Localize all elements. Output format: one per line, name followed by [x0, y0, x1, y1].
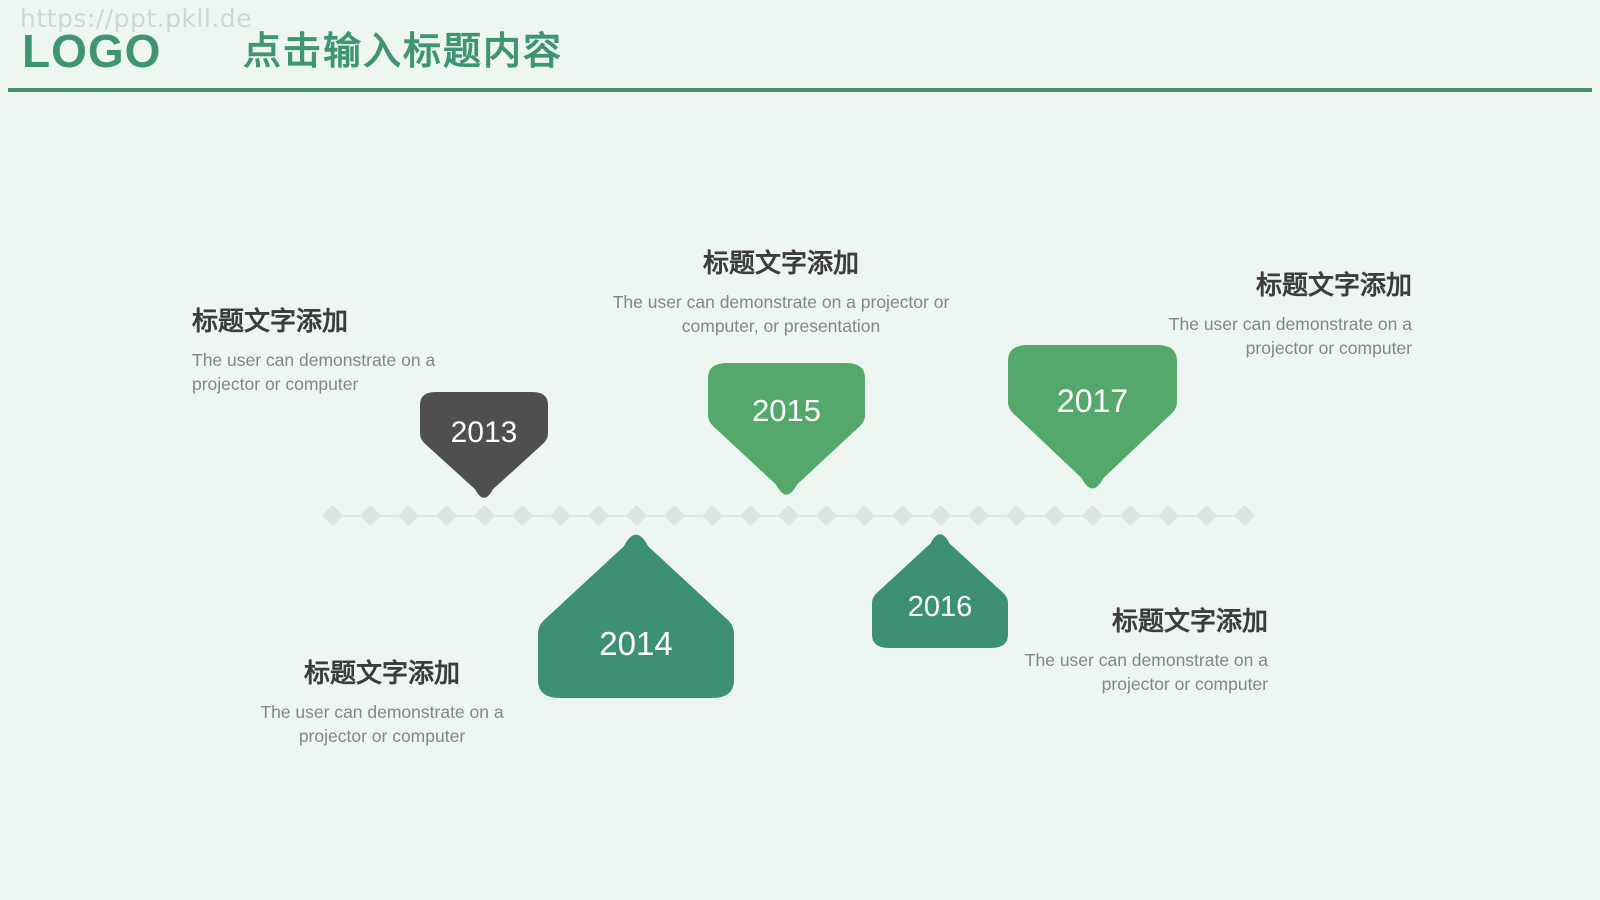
caption-title: 标题文字添加	[192, 306, 438, 339]
caption-title: 标题文字添加	[258, 658, 506, 691]
timeline-dot	[968, 505, 989, 526]
milestone-caption-2014: 标题文字添加The user can demonstrate on a proj…	[258, 658, 506, 748]
milestone-gem-2015[interactable]: 2015	[708, 363, 865, 506]
timeline-dot	[550, 505, 571, 526]
timeline-dot	[626, 505, 647, 526]
milestone-caption-2017: 标题文字添加The user can demonstrate on a proj…	[1160, 270, 1412, 360]
milestone-caption-2013: 标题文字添加The user can demonstrate on a proj…	[192, 306, 438, 396]
milestone-gem-2014[interactable]: 2014	[538, 533, 734, 708]
timeline-dot	[778, 505, 799, 526]
timeline-dot	[892, 505, 913, 526]
gem-shape-icon	[1008, 345, 1177, 500]
timeline-dot	[1158, 505, 1179, 526]
caption-title: 标题文字添加	[600, 248, 962, 281]
gem-shape-icon	[420, 392, 548, 509]
milestone-caption-2015: 标题文字添加The user can demonstrate on a proj…	[600, 248, 962, 338]
timeline-dot	[1044, 505, 1065, 526]
gem-shape-icon	[538, 533, 734, 708]
milestone-caption-2016: 标题文字添加The user can demonstrate on a proj…	[1018, 606, 1268, 696]
gem-shape-icon	[708, 363, 865, 506]
caption-title: 标题文字添加	[1160, 270, 1412, 303]
timeline-dot	[322, 505, 343, 526]
caption-body: The user can demonstrate on a projector …	[600, 290, 962, 338]
milestone-gem-2016[interactable]: 2016	[872, 533, 1008, 658]
timeline-dot	[664, 505, 685, 526]
timeline-dot	[854, 505, 875, 526]
caption-body: The user can demonstrate on a projector …	[192, 348, 438, 396]
header-divider	[8, 88, 1592, 92]
timeline-dot	[702, 505, 723, 526]
timeline-dot	[1196, 505, 1217, 526]
timeline-dot	[740, 505, 761, 526]
timeline-dot	[398, 505, 419, 526]
slide-canvas: https://ppt.pkll.de LOGO 点击输入标题内容 201320…	[0, 0, 1600, 900]
caption-body: The user can demonstrate on a projector …	[1160, 312, 1412, 360]
timeline-dot	[1082, 505, 1103, 526]
logo-text: LOGO	[22, 28, 161, 74]
gem-shape-icon	[872, 533, 1008, 658]
timeline-dot	[588, 505, 609, 526]
timeline-dot	[1120, 505, 1141, 526]
milestone-gem-2013[interactable]: 2013	[420, 392, 548, 509]
timeline-dot	[1006, 505, 1027, 526]
page-title: 点击输入标题内容	[243, 32, 563, 70]
slide-header: https://ppt.pkll.de LOGO 点击输入标题内容	[0, 0, 1600, 92]
timeline-dot	[360, 505, 381, 526]
milestone-gem-2017[interactable]: 2017	[1008, 345, 1177, 500]
timeline-dot	[930, 505, 951, 526]
timeline-dot	[1234, 505, 1255, 526]
timeline-dot	[816, 505, 837, 526]
caption-title: 标题文字添加	[1018, 606, 1268, 639]
caption-body: The user can demonstrate on a projector …	[258, 700, 506, 748]
caption-body: The user can demonstrate on a projector …	[1018, 648, 1268, 696]
